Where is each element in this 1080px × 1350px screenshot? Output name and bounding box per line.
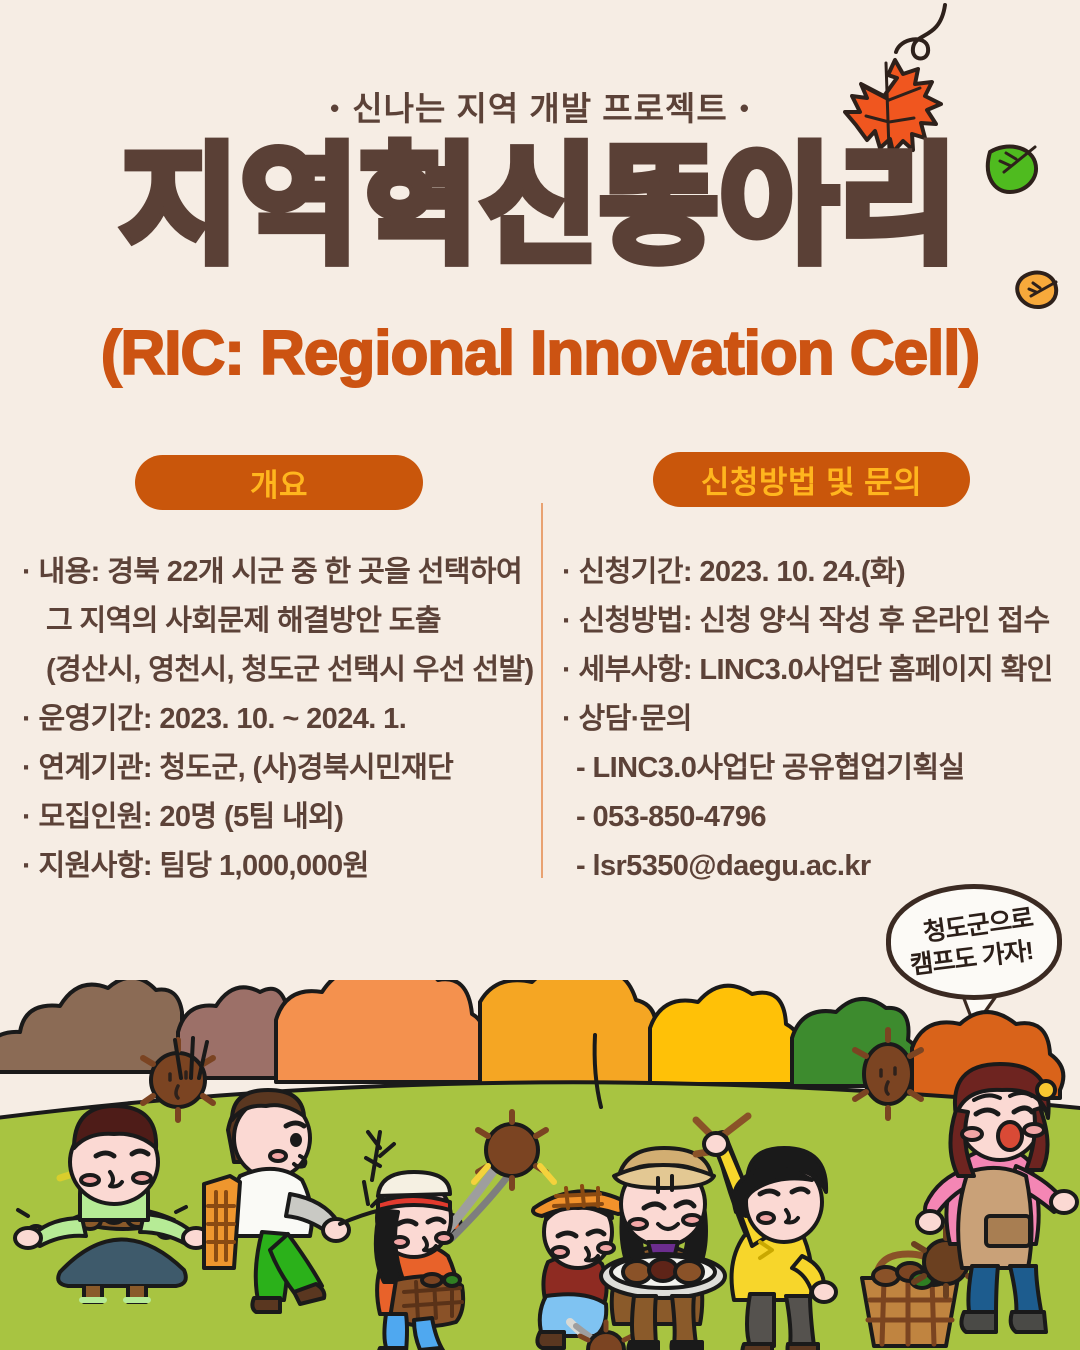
overview-list: · 내용: 경북 22개 시군 중 한 곳을 선택하여그 지역의 사회문제 해결… [22, 548, 532, 891]
subtitle-dot-left: • [330, 93, 340, 124]
overview-line-3: · 운영기간: 2023. 10. ~ 2024. 1. [22, 695, 532, 744]
subtitle-dot-right: • [740, 93, 750, 124]
column-divider [541, 503, 543, 878]
overview-line-4: · 연계기관: 청도군, (사)경북시민재단 [22, 744, 532, 793]
overview-line-0: · 내용: 경북 22개 시군 중 한 곳을 선택하여 [22, 548, 532, 597]
subtitle: •신나는 지역 개발 프로젝트• [0, 82, 1080, 130]
curly-trail-icon [896, 5, 945, 59]
badge-overview: 개요 [135, 455, 423, 510]
apply-line-1: · 신청방법: 신청 양식 작성 후 온라인 접수 [562, 597, 1067, 646]
page-title: 지역혁신똥아리 [0, 140, 1080, 274]
apply-list: · 신청기간: 2023. 10. 24.(화)· 신청방법: 신청 양식 작성… [562, 548, 1067, 891]
apply-line-4: - LINC3.0사업단 공유협업기획실 [562, 744, 1067, 793]
illustration-autumn-chestnut-scene [0, 980, 1080, 1350]
overview-line-2: (경산시, 영천시, 청도군 선택시 우선 선발) [22, 646, 532, 695]
apply-line-5: - 053-850-4796 [562, 793, 1067, 842]
poster-root: •신나는 지역 개발 프로젝트• 지역혁신똥아리 (RIC: Regional … [0, 0, 1080, 1350]
overview-line-6: · 지원사항: 팀당 1,000,000원 [22, 842, 532, 891]
apply-line-3: · 상담·문의 [562, 695, 1067, 744]
english-title: (RIC: Regional Innovation Cell) [0, 318, 1080, 389]
overview-line-5: · 모집인원: 20명 (5팀 내외) [22, 793, 532, 842]
subtitle-text: 신나는 지역 개발 프로젝트 [340, 82, 739, 130]
badge-apply: 신청방법 및 문의 [653, 452, 970, 507]
apply-line-2: · 세부사항: LINC3.0사업단 홈페이지 확인 [562, 646, 1067, 695]
amber-leaf-icon [1017, 273, 1056, 307]
apply-line-0: · 신청기간: 2023. 10. 24.(화) [562, 548, 1067, 597]
overview-line-1: 그 지역의 사회문제 해결방안 도출 [22, 597, 532, 646]
